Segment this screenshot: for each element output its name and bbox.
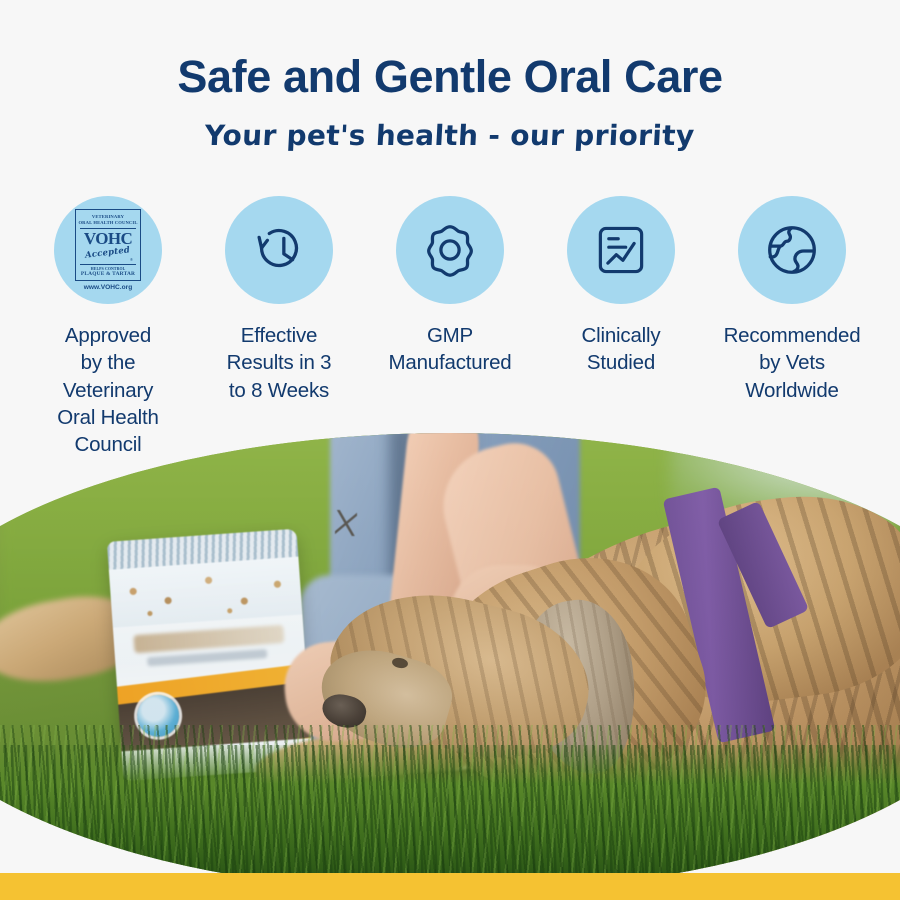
feature-circle-gear <box>396 196 504 304</box>
feature-label-clinically-studied: Clinically Studied <box>582 322 661 377</box>
vohc-url: www.VOHC.org <box>84 284 132 291</box>
feature-circle-globe <box>738 196 846 304</box>
photo-grass-blades <box>0 725 900 875</box>
lifestyle-photo <box>0 415 900 875</box>
photo-scene <box>0 415 900 875</box>
page-title: Safe and Gentle Oral Care <box>0 0 900 102</box>
feature-label-effective-results: Effective Results in 3 to 8 Weeks <box>227 322 332 404</box>
gear-icon <box>419 219 481 281</box>
bottom-accent-bar <box>0 873 900 900</box>
feature-label-recommended: Recommended by Vets Worldwide <box>724 322 861 404</box>
clock-arrow-icon <box>248 219 310 281</box>
feature-circle-chart <box>567 196 675 304</box>
product-feature-poster: Safe and Gentle Oral Care Your pet's hea… <box>0 0 900 900</box>
globe-icon <box>761 219 823 281</box>
vohc-registered-mark: ® <box>130 257 133 262</box>
feature-item-effective-results: Effective Results in 3 to 8 Weeks <box>194 196 365 404</box>
vohc-line2: ORAL HEALTH COUNCIL <box>78 220 137 226</box>
vohc-divider-bottom <box>80 264 136 265</box>
feature-item-gmp: GMP Manufactured <box>365 196 536 377</box>
feature-label-gmp: GMP Manufactured <box>389 322 512 377</box>
feature-circle-vohc: VETERINARY ORAL HEALTH COUNCIL VOHC Acce… <box>54 196 162 304</box>
feature-item-clinically-studied: Clinically Studied <box>536 196 707 377</box>
photo-arm-tattoo <box>335 510 357 536</box>
photo-arch-mask <box>0 415 900 875</box>
vohc-seal-icon: VETERINARY ORAL HEALTH COUNCIL VOHC Acce… <box>75 209 141 281</box>
chart-document-icon <box>591 220 651 280</box>
feature-circle-clock <box>225 196 333 304</box>
photo-bag-subtitle-text <box>147 649 267 666</box>
headline-block: Safe and Gentle Oral Care Your pet's hea… <box>0 0 900 152</box>
feature-item-recommended: Recommended by Vets Worldwide <box>707 196 878 404</box>
page-subtitle: Your pet's health - our priority <box>0 102 900 152</box>
vohc-seal-box: VETERINARY ORAL HEALTH COUNCIL VOHC Acce… <box>75 209 141 281</box>
vohc-url-wrap: www.VOHC.org <box>75 276 141 294</box>
photo-bag-kibble-graphic <box>109 557 303 628</box>
